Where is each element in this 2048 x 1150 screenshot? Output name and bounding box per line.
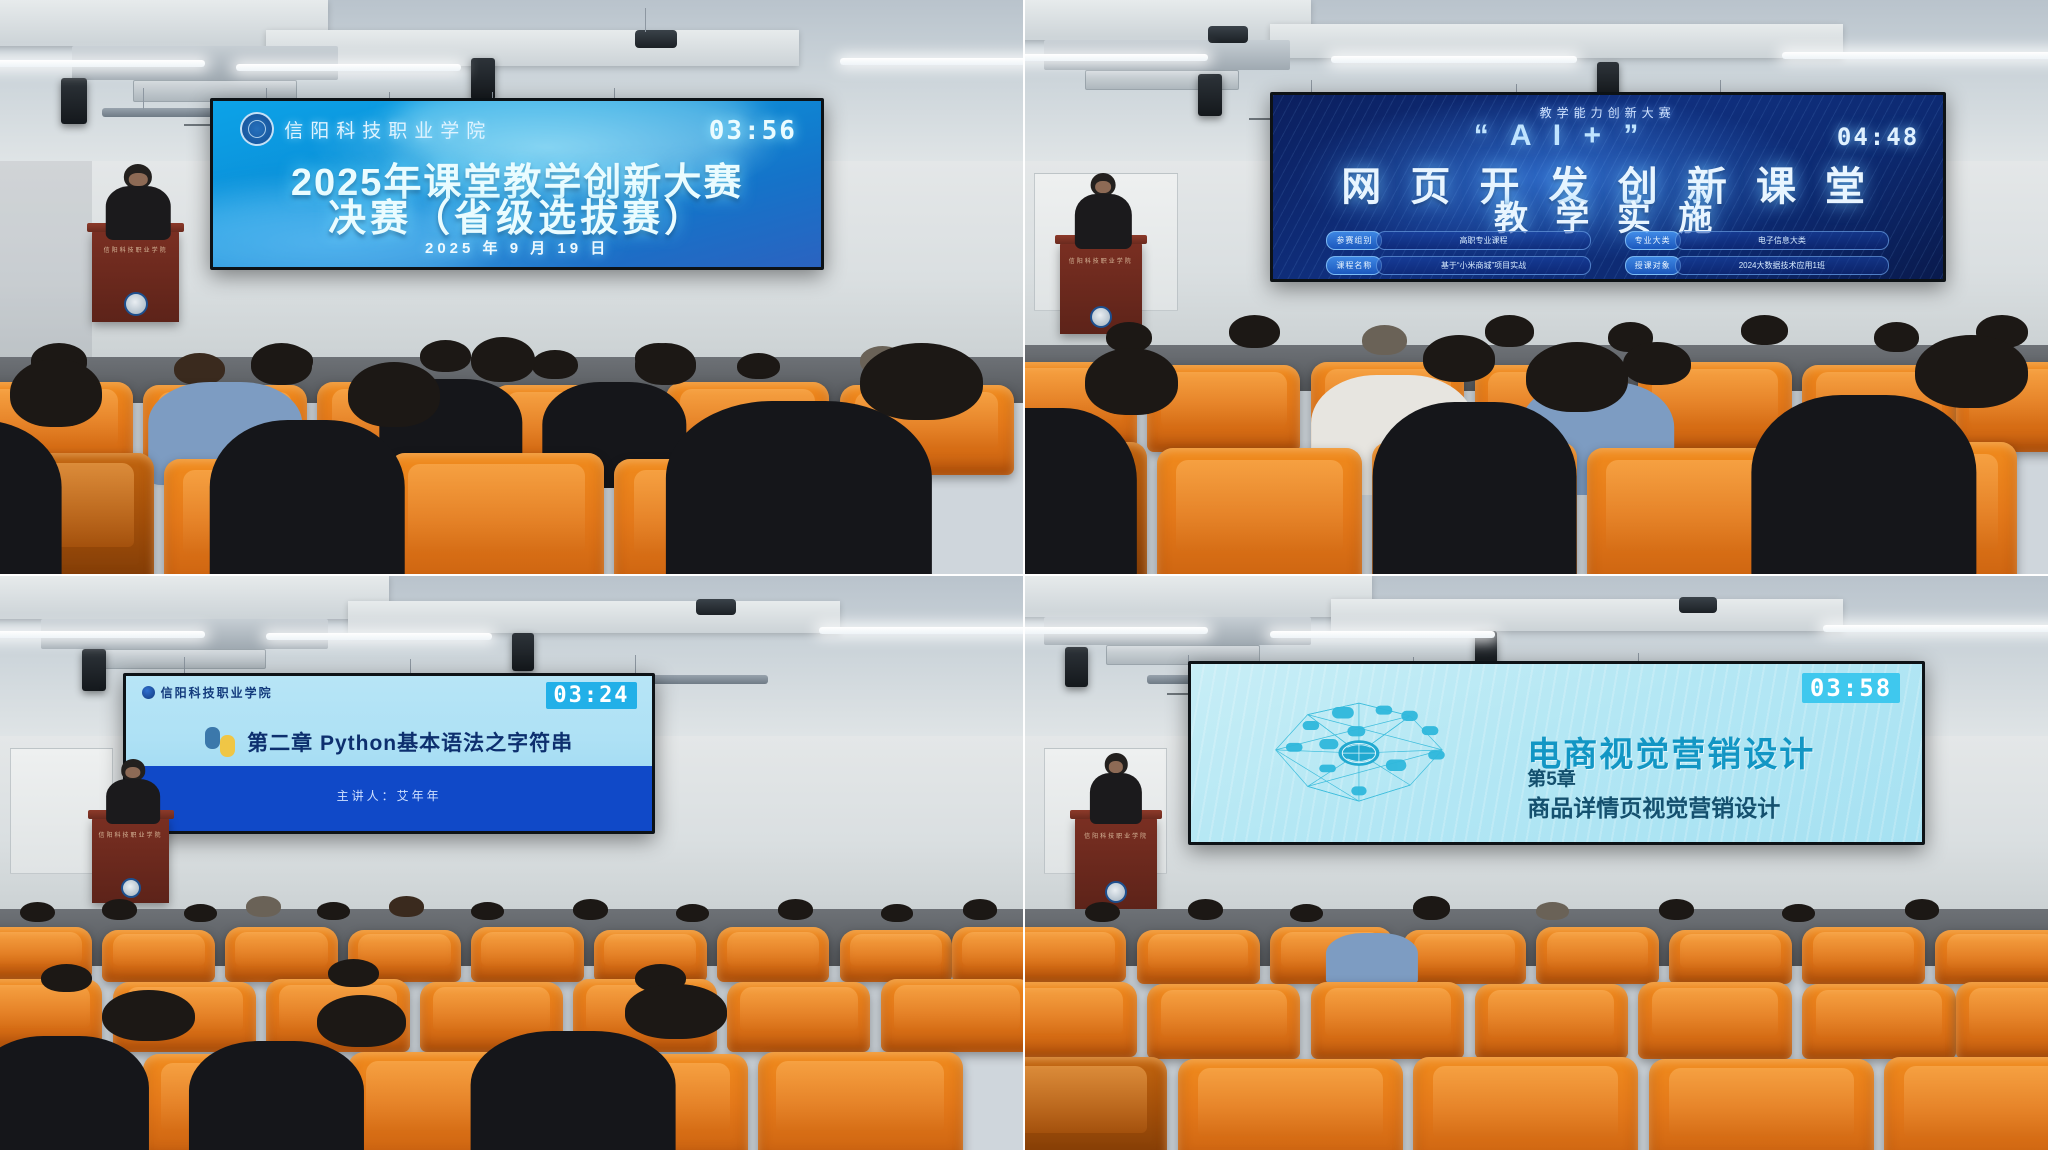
- speaker-body: [1090, 773, 1142, 824]
- slide-chapter: 第5章: [1527, 764, 1576, 791]
- ceiling-speaker: [1065, 647, 1088, 687]
- auditorium-seat[interactable]: [1137, 930, 1260, 984]
- projector: [1208, 26, 1248, 43]
- audience-head: [10, 359, 102, 427]
- projector: [1679, 597, 1717, 613]
- auditorium-seat[interactable]: [1157, 448, 1362, 575]
- presentation-screen[interactable]: 03:58 电商视觉营销设计 第5章 商品详情页视觉营销设计: [1188, 661, 1925, 845]
- ceiling-light: [0, 631, 205, 638]
- ceiling-slab: [1270, 24, 1843, 58]
- university-crest-icon: [240, 112, 274, 146]
- podium-label: 信阳科技职业学院: [99, 830, 163, 839]
- auditorium-seat[interactable]: [1536, 927, 1659, 984]
- video-grid: 信阳科技职业学院 03:56 2025年课堂教学创新大赛 决赛（省级选拔赛） 2…: [0, 0, 2048, 1150]
- audience-area: [1024, 242, 2048, 576]
- audience-head: [102, 899, 137, 920]
- ceiling-light: [0, 60, 205, 67]
- auditorium-seat[interactable]: [471, 927, 584, 981]
- speaker-person: [108, 759, 159, 822]
- audience-head: [317, 902, 350, 920]
- audience-head: [1423, 335, 1495, 382]
- panel-python-course[interactable]: 信阳科技职业学院 03:24 第二章 Python基本语法之字符串 主讲人：艾年…: [0, 575, 1024, 1150]
- ceiling-speaker: [61, 78, 87, 124]
- ceiling-light: [266, 633, 491, 640]
- university-logo-block: 信阳科技职业学院: [240, 112, 492, 146]
- auditorium-seat[interactable]: [1311, 982, 1465, 1060]
- auditorium-seat[interactable]: [952, 927, 1024, 981]
- slide-background: 信阳科技职业学院 03:24 第二章 Python基本语法之字符串 主讲人：艾年…: [126, 676, 652, 831]
- audience-person: [1372, 402, 1577, 575]
- ceiling-speaker: [1198, 74, 1222, 116]
- ceiling-slab: [1024, 0, 1311, 40]
- ceiling-light: [1782, 52, 2048, 59]
- panel-ai-web-development[interactable]: 教学能力创新大赛 “ A I + ” 04:48 网 页 开 发 创 新 课 堂…: [1024, 0, 2048, 575]
- audience-head: [1188, 899, 1223, 920]
- slide-presenter: 主讲人：艾年年: [126, 787, 652, 804]
- audience-head: [1106, 322, 1152, 352]
- university-block: 信阳科技职业学院: [142, 684, 273, 701]
- slide-title-row: 第二章 Python基本语法之字符串: [126, 727, 652, 757]
- audience-head: [348, 362, 440, 426]
- audience-person: [666, 401, 932, 575]
- presentation-screen[interactable]: 信阳科技职业学院 03:24 第二章 Python基本语法之字符串 主讲人：艾年…: [123, 673, 655, 834]
- auditorium-seat[interactable]: [1669, 930, 1792, 984]
- audience-area: [1024, 891, 2048, 1150]
- audience-head: [174, 353, 225, 385]
- auditorium-seat[interactable]: [1884, 1057, 2048, 1150]
- auditorium-seat[interactable]: [1475, 984, 1629, 1059]
- auditorium-seat[interactable]: [102, 930, 215, 982]
- speaker-body: [106, 779, 160, 825]
- countdown-timer: 04:48: [1837, 123, 1919, 151]
- audience-head: [1659, 899, 1694, 920]
- audience-head: [420, 340, 471, 372]
- countdown-timer: 03:58: [1802, 673, 1900, 703]
- auditorium-seat[interactable]: [1147, 984, 1301, 1059]
- audience-head: [317, 995, 405, 1047]
- ceiling-speaker: [512, 633, 534, 671]
- speaker-person: [108, 164, 169, 239]
- ceiling-speaker: [82, 649, 106, 691]
- audience-head: [102, 990, 194, 1042]
- audience-head: [1485, 315, 1534, 347]
- audience-head: [1085, 902, 1120, 923]
- audience-head: [1874, 322, 1919, 352]
- auditorium-seat[interactable]: [1024, 1057, 1167, 1150]
- audience-head: [1741, 315, 1788, 345]
- ceiling-slab: [348, 601, 840, 633]
- slide-title-line2: 决赛（省级选拔赛）: [213, 187, 821, 242]
- audience-head: [1915, 335, 2028, 408]
- auditorium-seat[interactable]: [881, 979, 1024, 1051]
- audience-head: [860, 343, 983, 420]
- audience-person: [189, 1041, 363, 1150]
- slide-background: 03:58 电商视觉营销设计 第5章 商品详情页视觉营销设计: [1191, 664, 1922, 842]
- ceiling-slab: [1331, 599, 1843, 631]
- network-nodes-diagram-icon: [1220, 689, 1498, 817]
- slide-title: 第二章 Python基本语法之字符串: [247, 727, 573, 757]
- projector-hanger: [645, 8, 646, 32]
- audience-head: [1536, 902, 1569, 920]
- audience-head: [1905, 899, 1940, 920]
- auditorium-seat[interactable]: [1413, 1057, 1638, 1150]
- ceiling-light: [1823, 625, 2048, 632]
- audience-head: [389, 896, 424, 917]
- audience-head: [471, 337, 534, 382]
- projector: [635, 30, 677, 48]
- audience-head: [676, 904, 709, 922]
- ceiling-slab: [1024, 575, 1372, 617]
- ceiling-light: [819, 627, 1024, 634]
- slide-subtitle: 商品详情页视觉营销设计: [1527, 789, 1780, 823]
- auditorium-seat[interactable]: [717, 927, 830, 981]
- auditorium-seat[interactable]: [1956, 982, 2048, 1060]
- university-name: 信阳科技职业学院: [161, 684, 273, 701]
- audience-person: [1751, 395, 1976, 575]
- auditorium-seat[interactable]: [1024, 982, 1137, 1057]
- university-logo-icon: [142, 686, 155, 699]
- countdown-timer: 03:56: [709, 116, 797, 146]
- audience-head: [963, 899, 998, 920]
- podium: 信阳科技职业学院: [92, 817, 169, 903]
- ceiling-slab: [0, 575, 389, 619]
- audience-head: [532, 350, 577, 379]
- ceiling-light: [840, 58, 1024, 65]
- auditorium-seat[interactable]: [225, 927, 338, 981]
- audience-head: [471, 902, 504, 920]
- light-hanger: [143, 88, 144, 110]
- audience-head: [881, 904, 914, 922]
- podium-label: 信阳科技职业学院: [1084, 831, 1148, 840]
- auditorium-seat[interactable]: [1403, 930, 1526, 984]
- audience-head: [1290, 904, 1323, 922]
- speaker-face: [1095, 181, 1111, 194]
- audience-person: [471, 1031, 676, 1150]
- audience-head: [737, 353, 780, 379]
- auditorium-seat[interactable]: [727, 982, 870, 1052]
- countdown-timer: 03:24: [546, 682, 636, 709]
- audience-person: [0, 1036, 148, 1150]
- audience-head: [1413, 896, 1450, 919]
- auditorium-seat[interactable]: [1178, 1059, 1403, 1150]
- auditorium-seat[interactable]: [1802, 927, 1925, 984]
- ceiling-light: [1024, 54, 1208, 61]
- grid-divider-horizontal: [0, 574, 2048, 576]
- audience-area: [0, 891, 1024, 1150]
- auditorium-seat[interactable]: [758, 1052, 963, 1150]
- audience-head: [573, 899, 608, 920]
- audience-person: [210, 420, 405, 575]
- audience-head: [1229, 315, 1280, 348]
- speaker-face: [1109, 761, 1123, 773]
- panel-ecommerce-visual-marketing[interactable]: 03:58 电商视觉营销设计 第5章 商品详情页视觉营销设计 信阳科技职业学院: [1024, 575, 2048, 1150]
- audience-person: [1326, 933, 1418, 985]
- ceiling-slab: [266, 30, 798, 66]
- ceiling-light: [1331, 56, 1577, 63]
- ceiling-light: [1270, 631, 1495, 638]
- panel-opening-ceremony[interactable]: 信阳科技职业学院 03:56 2025年课堂教学创新大赛 决赛（省级选拔赛） 2…: [0, 0, 1024, 575]
- audience-head: [246, 896, 281, 917]
- audience-head: [635, 343, 696, 385]
- audience-head: [625, 984, 727, 1038]
- presentation-screen[interactable]: 信阳科技职业学院 03:56 2025年课堂教学创新大赛 决赛（省级选拔赛） 2…: [210, 98, 824, 271]
- projector: [696, 599, 736, 615]
- auditorium-seat[interactable]: [840, 930, 953, 982]
- python-logo-icon: [205, 727, 235, 757]
- auditorium-seat[interactable]: [1024, 927, 1126, 981]
- audience-head: [778, 899, 813, 920]
- audience-head: [251, 343, 312, 385]
- audience-head: [1782, 904, 1815, 922]
- audience-head: [1085, 348, 1177, 415]
- audience-head: [20, 902, 55, 923]
- speaker-person: [1091, 753, 1142, 822]
- auditorium-seat[interactable]: [1638, 982, 1792, 1060]
- audience-head: [1526, 342, 1628, 412]
- audience-head: [1362, 325, 1407, 355]
- audience-head: [184, 904, 217, 922]
- university-name: 信阳科技职业学院: [284, 116, 492, 143]
- ceiling-light: [1024, 627, 1208, 634]
- auditorium-seat[interactable]: [389, 453, 604, 575]
- audience-head: [41, 964, 92, 992]
- ceiling-light: [236, 64, 461, 71]
- auditorium-seat[interactable]: [1649, 1059, 1874, 1150]
- auditorium-seat[interactable]: [1935, 930, 2048, 984]
- audience-area: [0, 253, 1024, 575]
- audience-head: [328, 959, 379, 987]
- speaker-body: [106, 186, 171, 240]
- speaker-person: [1075, 173, 1131, 248]
- slide-background: 信阳科技职业学院 03:56 2025年课堂教学创新大赛 决赛（省级选拔赛） 2…: [213, 101, 821, 268]
- audience-head: [1623, 342, 1691, 385]
- slide-quote-title: “ A I + ”: [1474, 119, 1646, 153]
- auditorium-seat[interactable]: [1802, 984, 1956, 1059]
